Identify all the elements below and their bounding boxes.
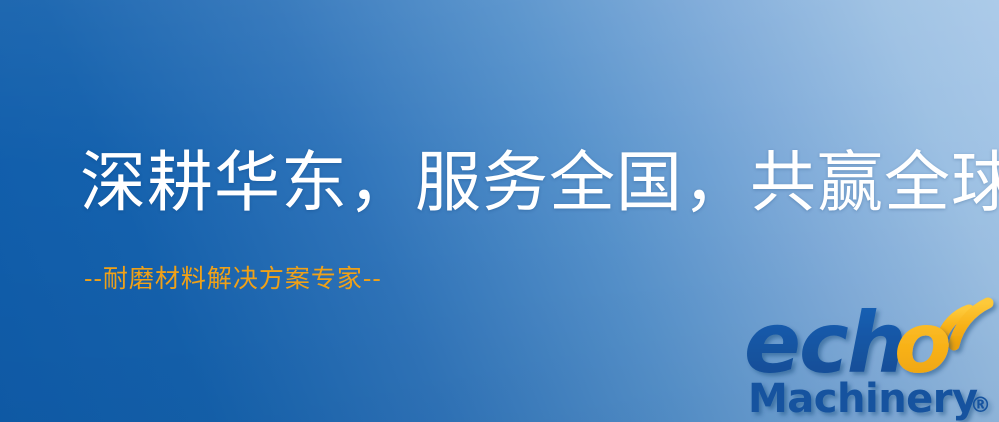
echo-machinery-logo: ech o Machinery ® [742, 292, 999, 422]
hero-banner: 深耕华东，服务全国，共赢全球 --耐磨材料解决方案专家-- [0, 0, 999, 422]
banner-headline: 深耕华东，服务全国，共赢全球 [80, 150, 999, 216]
banner-subtitle: --耐磨材料解决方案专家-- [84, 266, 382, 291]
logo-registered-mark: ® [970, 393, 991, 417]
logo-tagline: Machinery [748, 376, 978, 422]
